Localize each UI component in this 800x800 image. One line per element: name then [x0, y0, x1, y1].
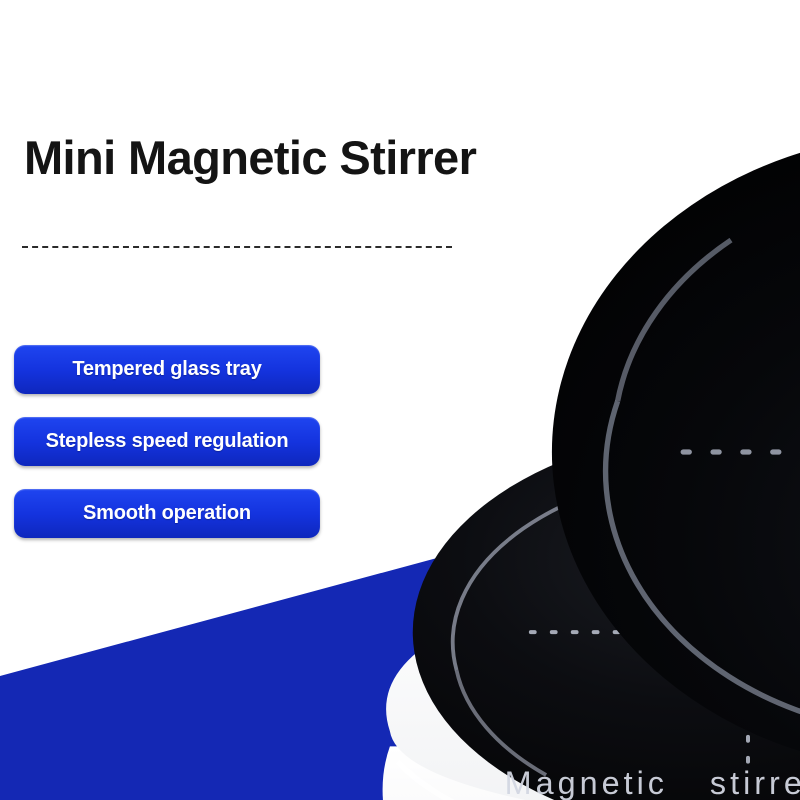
callout-arrow-icon [548, 250, 800, 800]
feature-badge-list: Tempered glass tray Stepless speed regul… [14, 345, 320, 561]
title-divider [22, 246, 452, 248]
feature-badge-label: Stepless speed regulation [46, 430, 289, 453]
product-marketing-image: Mini Magnetic Stirrer Tempered glass tra… [0, 0, 800, 800]
feature-badge-smooth-operation[interactable]: Smooth operation [14, 489, 320, 538]
feature-badge-label: Tempered glass tray [72, 358, 261, 381]
feature-badge-stepless-speed-regulation[interactable]: Stepless speed regulation [14, 417, 320, 466]
feature-badge-tempered-glass-tray[interactable]: Tempered glass tray [14, 345, 320, 394]
feature-badge-label: Smooth operation [83, 502, 251, 525]
page-title: Mini Magnetic Stirrer [24, 130, 476, 185]
